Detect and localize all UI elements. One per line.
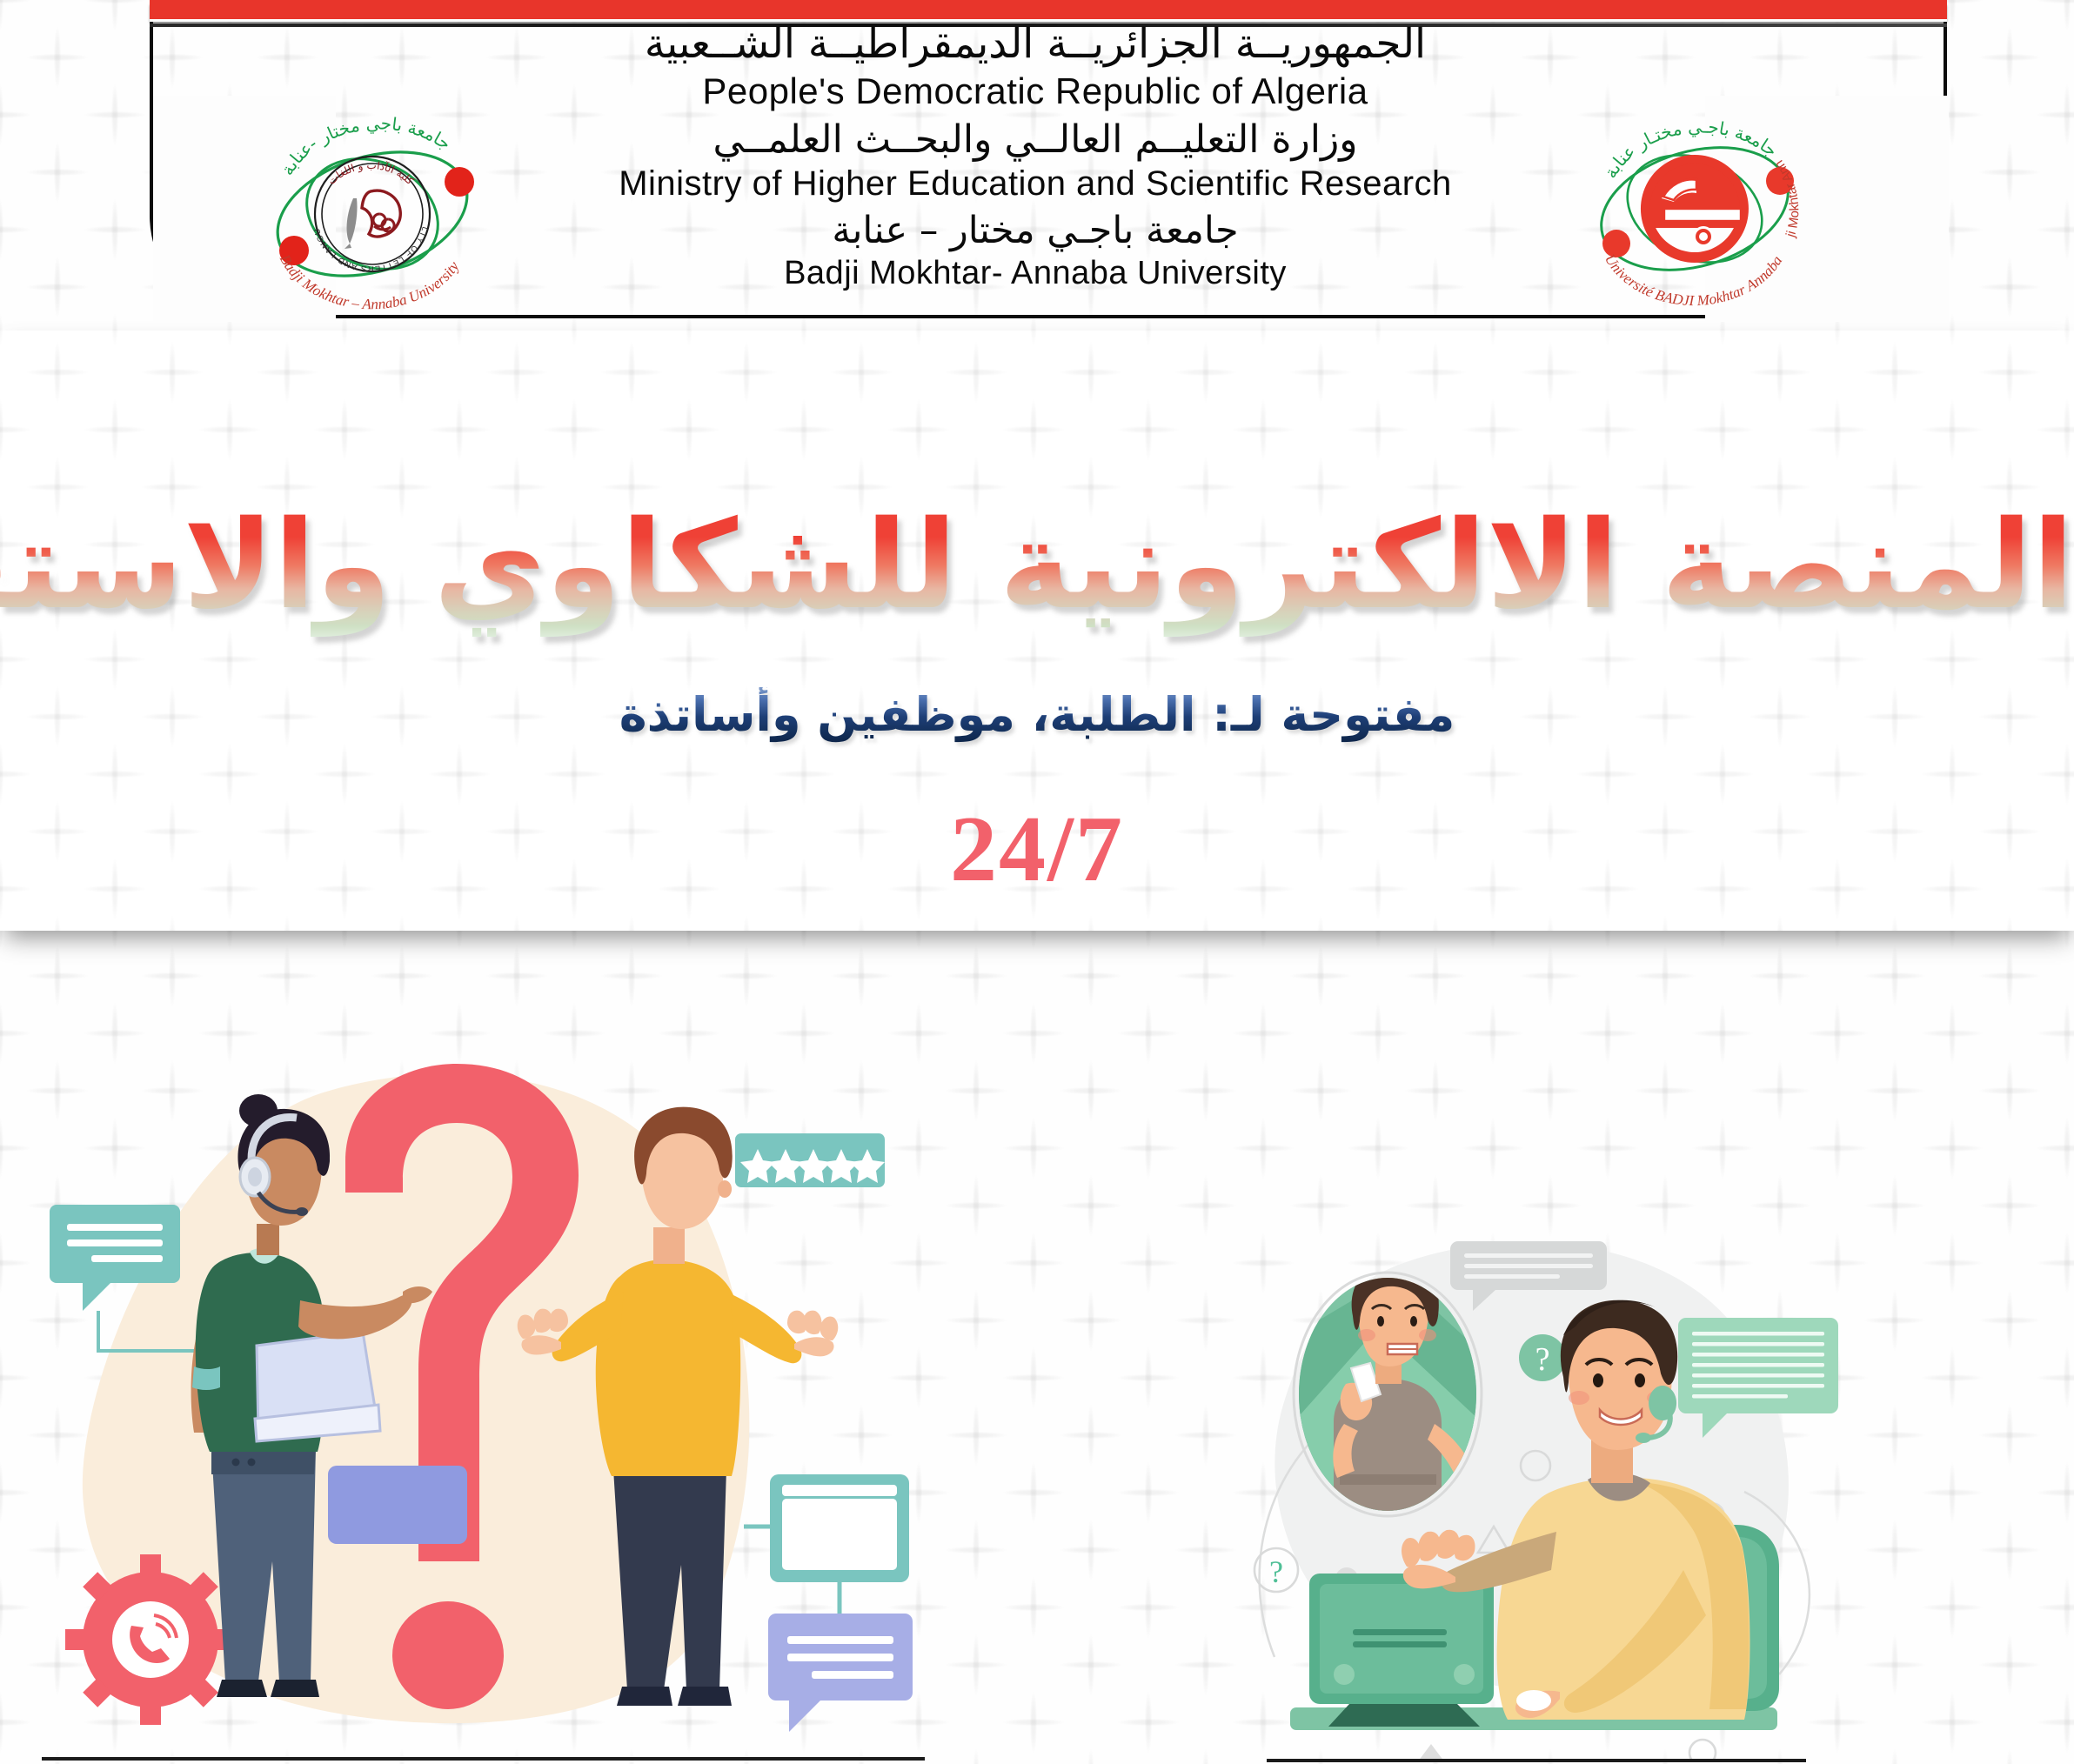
right-illustration-baseline bbox=[1267, 1759, 1806, 1762]
availability-hours: 24/7 bbox=[0, 796, 2074, 904]
periwinkle-bar bbox=[328, 1466, 467, 1544]
header-country-ar: الجمهوريــة الجزائريــة الديمقراطيــة ال… bbox=[470, 19, 1601, 69]
chat-bubble-periwinkle bbox=[768, 1614, 913, 1732]
question-mark-badge-green: ? bbox=[1519, 1334, 1566, 1381]
poster-root: الجمهوريــة الجزائريــة الديمقراطيــة ال… bbox=[0, 0, 2074, 1764]
header-university-en: Badji Mokhtar- Annaba University bbox=[470, 253, 1601, 293]
five-star-rating-badge bbox=[735, 1133, 885, 1187]
customer-support-question-illustration bbox=[39, 1039, 927, 1761]
svg-text:?: ? bbox=[1535, 1341, 1550, 1378]
page-subtitle: مفتوحة لـ: الطلبة، موظفين وأساتذة bbox=[0, 687, 2074, 744]
logo-orbit-dot-red bbox=[445, 167, 474, 197]
question-mark-outline-badge: ? bbox=[1254, 1548, 1298, 1592]
page-title: المنصة الالكترونية للشكاوي والاستفسارات bbox=[0, 494, 2074, 638]
faculty-of-letters-and-languages-logo: كلية الآداب و اللغات FACULTY OF LETTERS … bbox=[249, 111, 492, 320]
badji-mokhtar-annaba-university-logo: جامعة باجـي مختـار عنابة Badji Mokhtar A… bbox=[1566, 106, 1818, 319]
svg-text:?: ? bbox=[1269, 1554, 1283, 1589]
computer-mouse bbox=[1516, 1690, 1551, 1711]
top-red-accent-bar bbox=[150, 0, 1947, 19]
header-country-en: People's Democratic Republic of Algeria bbox=[470, 69, 1601, 113]
institution-header-text: الجمهوريــة الجزائريــة الديمقراطيــة ال… bbox=[470, 19, 1601, 297]
header-ministry-ar: وزارة التعليــم العالــي والبحــث العلمـ… bbox=[470, 117, 1601, 164]
header-university-ar: جامعة باجـي مختار – عنابة bbox=[470, 208, 1601, 253]
browser-window-icon bbox=[744, 1474, 909, 1614]
header-ministry-en: Ministry of Higher Education and Scienti… bbox=[470, 163, 1601, 205]
gear-with-phone-icon bbox=[65, 1554, 236, 1725]
left-illustration-baseline bbox=[42, 1757, 925, 1761]
desktop-monitor bbox=[1309, 1574, 1494, 1727]
call-center-operator-illustration: ? ? bbox=[1222, 1205, 1849, 1761]
